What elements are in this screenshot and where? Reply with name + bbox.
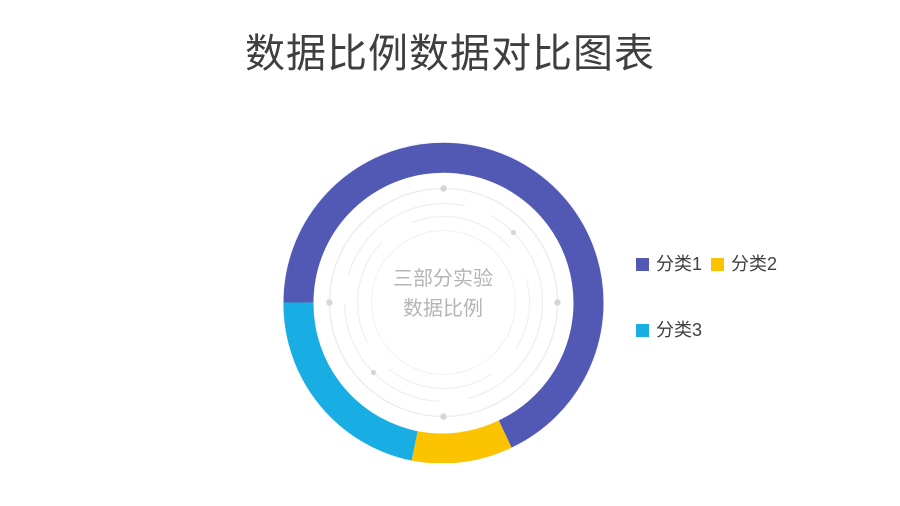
legend-label-1: 分类1 — [656, 253, 702, 275]
legend-label-2: 分类2 — [731, 253, 777, 275]
ring-dot-right — [554, 299, 560, 305]
legend-swatch-icon-1 — [636, 258, 649, 271]
ring-dot-bottom — [440, 413, 446, 419]
ring-dot-top — [440, 185, 446, 191]
decorative-ring-4 — [372, 231, 516, 375]
legend-item-分类1[interactable]: 分类1 — [636, 253, 702, 275]
donut-segments — [298, 158, 588, 449]
decorative-ring-dots — [326, 185, 560, 419]
legend-swatch-icon-2 — [711, 258, 724, 271]
legend-item-分类2[interactable]: 分类2 — [711, 253, 777, 275]
decorative-rings — [330, 189, 558, 417]
donut-segment-分类3[interactable] — [298, 303, 414, 446]
legend-item-分类3[interactable]: 分类3 — [636, 319, 702, 341]
legend-row-1: 分类1 分类2 — [636, 252, 876, 276]
chart-legend: 分类1 分类2 分类3 — [636, 252, 876, 342]
ring-dot-sw — [371, 370, 376, 375]
ring-dot-ne — [511, 230, 516, 235]
legend-swatch-icon-3 — [636, 324, 649, 337]
donut-chart: 三部分实验 数据比例 — [283, 142, 604, 463]
legend-row-2: 分类3 — [636, 318, 876, 342]
legend-label-3: 分类3 — [656, 319, 702, 341]
page-title: 数据比例数据对比图表 — [0, 28, 900, 80]
donut-segment-分类2[interactable] — [415, 434, 506, 448]
donut-chart-svg — [283, 142, 604, 463]
slide-canvas: 数据比例数据对比图表 — [0, 0, 900, 506]
decorative-ring-3 — [358, 217, 530, 389]
decorative-ring-1 — [330, 189, 558, 417]
ring-dot-left — [326, 299, 332, 305]
